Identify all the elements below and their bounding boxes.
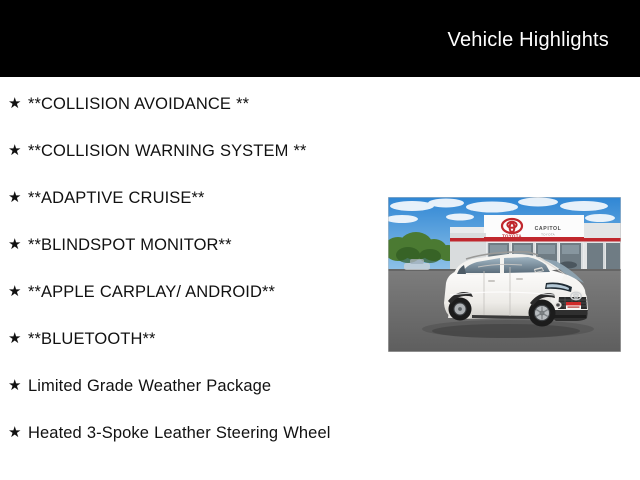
- list-item: ★ Limited Grade Weather Package: [8, 373, 380, 399]
- dealership-sign-text: CAPITOL: [535, 226, 562, 232]
- list-item-label: **COLLISION WARNING SYSTEM **: [28, 138, 380, 164]
- highlights-list: ★ **COLLISION AVOIDANCE ** ★ **COLLISION…: [8, 91, 380, 446]
- star-bullet-icon: ★: [8, 138, 28, 164]
- svg-text:TOYOTA: TOYOTA: [502, 234, 522, 239]
- vehicle-photo-illustration: TOYOTA CAPITOL TOYOTA: [388, 197, 621, 352]
- list-item-label: **ADAPTIVE CRUISE**: [28, 185, 380, 211]
- list-item: ★ Heated 3-Spoke Leather Steering Wheel: [8, 420, 380, 446]
- list-item-label: **BLUETOOTH**: [28, 326, 380, 352]
- list-item: ★ **COLLISION AVOIDANCE **: [8, 91, 380, 117]
- star-bullet-icon: ★: [8, 420, 28, 446]
- list-item-label: Heated 3-Spoke Leather Steering Wheel: [28, 420, 380, 446]
- star-bullet-icon: ★: [8, 232, 28, 258]
- star-bullet-icon: ★: [8, 373, 28, 399]
- dealer-plate: [566, 302, 581, 310]
- star-bullet-icon: ★: [8, 326, 28, 352]
- star-bullet-icon: ★: [8, 279, 28, 305]
- list-item-label: **APPLE CARPLAY/ ANDROID**: [28, 279, 380, 305]
- list-item: ★ **APPLE CARPLAY/ ANDROID**: [8, 279, 380, 305]
- list-item: ★ **COLLISION WARNING SYSTEM **: [8, 138, 380, 164]
- list-item-label: **COLLISION AVOIDANCE **: [28, 91, 380, 117]
- list-item: ★ **BLUETOOTH**: [8, 326, 380, 352]
- page-title: Vehicle Highlights: [448, 28, 609, 52]
- list-item-label: Limited Grade Weather Package: [28, 373, 380, 399]
- vehicle-photo: TOYOTA CAPITOL TOYOTA: [388, 197, 621, 352]
- content-area: ★ **COLLISION AVOIDANCE ** ★ **COLLISION…: [0, 77, 640, 480]
- list-item: ★ **ADAPTIVE CRUISE**: [8, 185, 380, 211]
- list-item-label: **BLINDSPOT MONITOR**: [28, 232, 380, 258]
- vehicle-highlights-page: Vehicle Highlights ★ **COLLISION AVOIDAN…: [0, 0, 640, 480]
- svg-text:TOYOTA: TOYOTA: [541, 233, 555, 237]
- star-bullet-icon: ★: [8, 185, 28, 211]
- list-item: ★ **BLINDSPOT MONITOR**: [8, 232, 380, 258]
- star-bullet-icon: ★: [8, 91, 28, 117]
- header-band: Vehicle Highlights: [0, 0, 640, 77]
